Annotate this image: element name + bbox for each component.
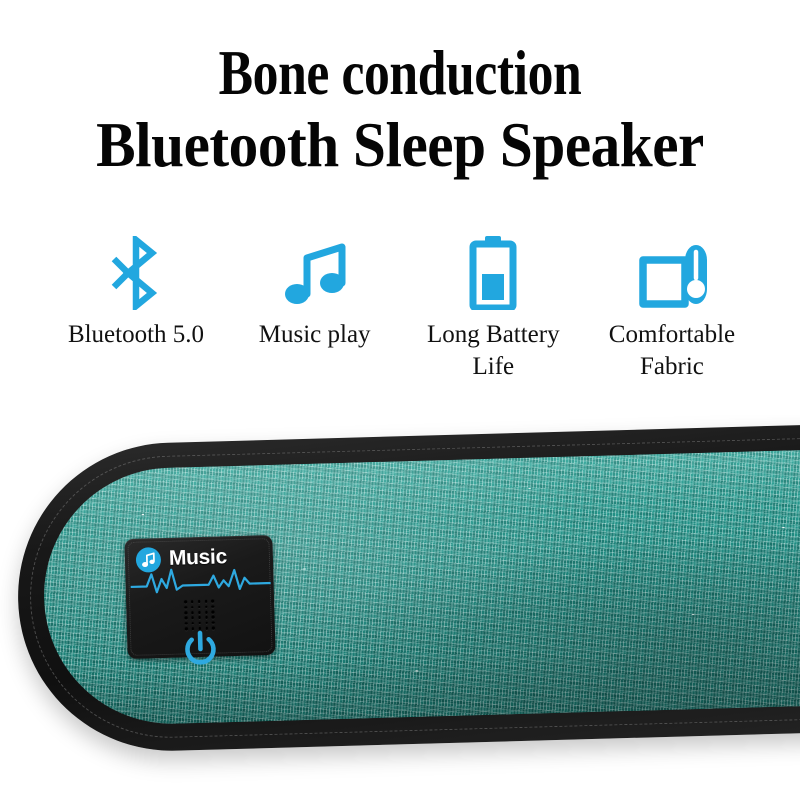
speaker-grille-icon <box>182 599 217 632</box>
product-banner: Bone conduction Bluetooth Sleep Speaker … <box>0 0 800 800</box>
feature-list: Bluetooth 5.0 Music play L <box>48 232 760 383</box>
feature-fabric: Comfortable Fabric <box>584 232 760 383</box>
page-title: Bone conduction Bluetooth Sleep Speaker <box>0 42 800 177</box>
fabric-roll-icon <box>633 232 711 310</box>
feature-music-play: Music play <box>227 232 403 351</box>
title-line-2: Bluetooth Sleep Speaker <box>24 114 776 177</box>
feature-label: Bluetooth 5.0 <box>68 319 204 351</box>
feature-bluetooth: Bluetooth 5.0 <box>48 232 224 351</box>
feature-label: Long Battery Life <box>418 319 568 383</box>
feature-label: Comfortable Fabric <box>597 319 747 383</box>
feature-label: Music play <box>259 319 371 351</box>
music-note-icon <box>280 232 350 310</box>
power-icon[interactable] <box>179 628 222 671</box>
battery-icon <box>466 232 520 310</box>
bluetooth-icon <box>108 232 164 310</box>
control-patch[interactable]: Music <box>124 535 275 659</box>
waveform-icon <box>130 565 271 595</box>
product-photo <box>0 415 800 800</box>
feature-battery: Long Battery Life <box>405 232 581 383</box>
title-line-1: Bone conduction <box>72 42 728 105</box>
